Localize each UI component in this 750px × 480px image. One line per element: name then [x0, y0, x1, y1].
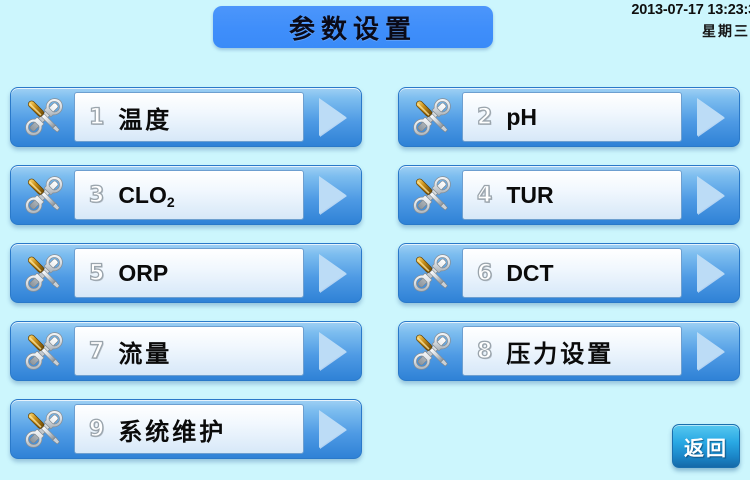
menu-item-label: 温度 — [118, 100, 172, 135]
menu-item-label: pH — [506, 104, 537, 131]
arrow-right-icon[interactable] — [309, 404, 355, 454]
menu-item-panel: 6DCT — [462, 248, 682, 298]
wrench-screwdriver-icon — [404, 247, 460, 299]
arrow-right-icon[interactable] — [687, 92, 733, 142]
clock-datetime: 2013-07-17 13:23:3 — [556, 2, 750, 18]
clock-display: 2013-07-17 13:23:3 星期三 — [556, 2, 750, 41]
page-title: 参数设置 — [289, 9, 417, 46]
menu-item-panel: 9系统维护 — [74, 404, 304, 454]
wrench-screwdriver-icon — [16, 247, 72, 299]
wrench-screwdriver-icon — [16, 91, 72, 143]
menu-button-7[interactable]: 7流量 — [10, 321, 362, 381]
menu-item-label: 压力设置 — [506, 334, 614, 369]
menu-item-label-text: 温度 — [118, 105, 172, 134]
menu-item-label-text: ORP — [118, 260, 168, 286]
arrow-right-glyph — [697, 254, 724, 292]
return-button[interactable]: 返回 — [672, 424, 740, 468]
menu-button-1[interactable]: 1温度 — [10, 87, 362, 147]
menu-button-6[interactable]: 6DCT — [398, 243, 740, 303]
menu-item-label: 流量 — [118, 334, 172, 369]
menu-item-label-text: pH — [506, 104, 537, 130]
arrow-right-icon[interactable] — [309, 248, 355, 298]
menu-item-number: 2 — [477, 105, 492, 130]
wrench-screwdriver-icon — [404, 325, 460, 377]
menu-item-label-subscript: 2 — [167, 194, 175, 210]
arrow-right-glyph — [319, 410, 346, 448]
arrow-right-icon[interactable] — [309, 170, 355, 220]
wrench-screwdriver-icon — [404, 169, 460, 221]
menu-button-5[interactable]: 5ORP — [10, 243, 362, 303]
menu-item-panel: 2pH — [462, 92, 682, 142]
arrow-right-icon[interactable] — [687, 326, 733, 376]
menu-item-panel: 4TUR — [462, 170, 682, 220]
arrow-right-glyph — [697, 176, 724, 214]
menu-item-label: ORP — [118, 260, 168, 287]
arrow-right-icon[interactable] — [309, 92, 355, 142]
menu-item-label: DCT — [506, 260, 553, 287]
menu-item-panel: 3CLO2 — [74, 170, 304, 220]
arrow-right-glyph — [697, 332, 724, 370]
menu-button-2[interactable]: 2pH — [398, 87, 740, 147]
return-button-label: 返回 — [684, 432, 728, 461]
menu-button-9[interactable]: 9系统维护 — [10, 399, 362, 459]
menu-item-number: 9 — [89, 417, 104, 442]
menu-item-number: 8 — [477, 339, 492, 364]
menu-item-label: CLO2 — [118, 182, 174, 209]
clock-weekday: 星期三 — [556, 21, 750, 41]
menu-item-label-text: 压力设置 — [506, 339, 614, 368]
menu-item-panel: 5ORP — [74, 248, 304, 298]
menu-item-label-text: TUR — [506, 182, 553, 208]
menu-button-4[interactable]: 4TUR — [398, 165, 740, 225]
menu-item-panel: 7流量 — [74, 326, 304, 376]
arrow-right-icon[interactable] — [687, 248, 733, 298]
menu-item-number: 6 — [477, 261, 492, 286]
menu-item-label-text: 流量 — [118, 339, 172, 368]
arrow-right-glyph — [697, 98, 724, 136]
menu-item-panel: 8压力设置 — [462, 326, 682, 376]
menu-item-number: 4 — [477, 183, 492, 208]
menu-item-panel: 1温度 — [74, 92, 304, 142]
menu-item-label-text: DCT — [506, 260, 553, 286]
wrench-screwdriver-icon — [16, 403, 72, 455]
menu-item-label: 系统维护 — [118, 412, 226, 447]
menu-button-3[interactable]: 3CLO2 — [10, 165, 362, 225]
wrench-screwdriver-icon — [16, 325, 72, 377]
menu-item-label-text: CLO — [118, 182, 167, 208]
page-title-bar: 参数设置 — [213, 6, 493, 48]
wrench-screwdriver-icon — [16, 169, 72, 221]
menu-button-8[interactable]: 8压力设置 — [398, 321, 740, 381]
menu-item-label-text: 系统维护 — [118, 417, 226, 446]
arrow-right-glyph — [319, 98, 346, 136]
arrow-right-glyph — [319, 176, 346, 214]
wrench-screwdriver-icon — [404, 91, 460, 143]
arrow-right-icon[interactable] — [687, 170, 733, 220]
arrow-right-icon[interactable] — [309, 326, 355, 376]
menu-item-number: 1 — [89, 105, 104, 130]
menu-item-number: 3 — [89, 183, 104, 208]
menu-item-label: TUR — [506, 182, 553, 209]
menu-item-number: 5 — [89, 261, 104, 286]
arrow-right-glyph — [319, 332, 346, 370]
arrow-right-glyph — [319, 254, 346, 292]
menu-item-number: 7 — [89, 339, 104, 364]
